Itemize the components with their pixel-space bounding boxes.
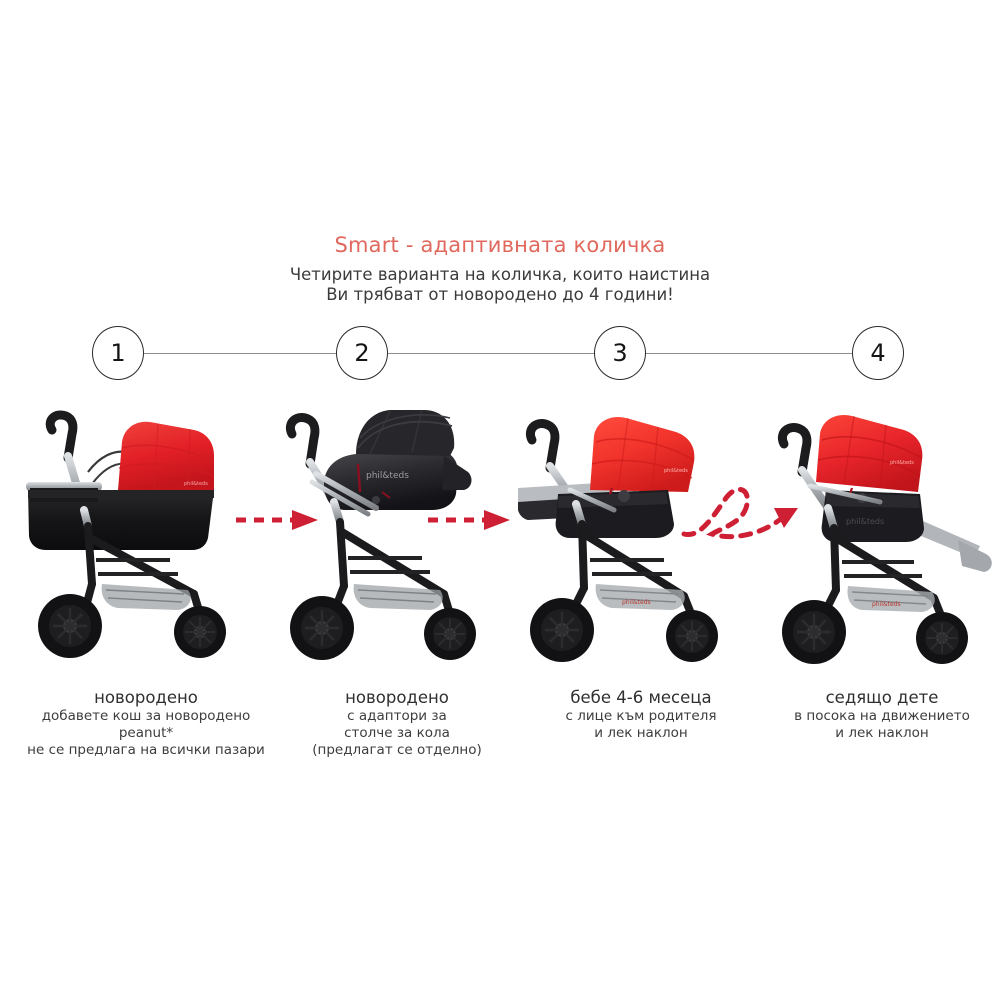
step-circle-1[interactable]: 1 [92, 326, 144, 380]
product-row: phil&teds [0, 398, 1000, 688]
caption-line-3-2: и лек наклон [516, 725, 766, 742]
step-number-1: 1 [110, 341, 125, 365]
caption-row: новородено добавете кош за новородено pe… [0, 688, 1000, 768]
rail-segment-3-4 [646, 353, 852, 354]
caption-line-1-2: peanut* [16, 725, 276, 742]
svg-text:phil&teds: phil&teds [872, 601, 901, 608]
brand-label: phil&teds [890, 460, 914, 466]
step-number-4: 4 [870, 341, 885, 365]
page-subtitle: Четирите варианта на количка, които наис… [0, 265, 1000, 305]
caption-head-1: новородено [16, 688, 276, 708]
product-image-forward-facing-seat: phil&teds phil&teds [762, 398, 1000, 688]
caption-parent-facing: бебе 4-6 месеца с лице към родителя и ле… [516, 688, 766, 742]
step-circle-4[interactable]: 4 [852, 326, 904, 380]
step-circle-3[interactable]: 3 [594, 326, 646, 380]
svg-text:phil&teds: phil&teds [622, 599, 651, 606]
product-image-bassinet: phil&teds [18, 398, 268, 688]
caption-head-4: седящо дете [762, 688, 1000, 708]
infographic-page: Smart - адаптивната количка Четирите вар… [0, 0, 1000, 1000]
page-title: Smart - адаптивната количка [0, 232, 1000, 258]
brand-label: phil&teds [184, 481, 208, 487]
caption-head-3: бебе 4-6 месеца [516, 688, 766, 708]
caption-forward-facing: седящо дете в посока на движението и лек… [762, 688, 1000, 742]
subtitle-line-1: Четирите варианта на количка, които наис… [0, 265, 1000, 285]
svg-text:phil&teds: phil&teds [846, 517, 884, 526]
caption-line-3-1: с лице към родителя [516, 708, 766, 725]
step-number-3: 3 [612, 341, 627, 365]
caption-line-2-3: (предлагат се отделно) [272, 742, 522, 759]
product-image-car-seat: phil&teds [272, 398, 522, 688]
step-indicator-rail: 1 2 3 4 [0, 326, 1000, 382]
caption-car-seat: новородено с адаптори за столче за кола … [272, 688, 522, 759]
step-number-2: 2 [354, 341, 369, 365]
caption-line-4-2: и лек наклон [762, 725, 1000, 742]
caption-line-1-3: не се предлага на всички пазари [16, 742, 276, 759]
step-circle-2[interactable]: 2 [336, 326, 388, 380]
subtitle-line-2: Ви трябват от новородено до 4 години! [0, 285, 1000, 305]
caption-head-2: новородено [272, 688, 522, 708]
caption-line-4-1: в посока на движението [762, 708, 1000, 725]
caption-line-2-2: столче за кола [272, 725, 522, 742]
brand-label: phil&teds [664, 468, 688, 474]
caption-line-1-1: добавете кош за новородено [16, 708, 276, 725]
heading-block: Smart - адаптивната количка Четирите вар… [0, 232, 1000, 305]
caption-line-2-1: с адаптори за [272, 708, 522, 725]
brand-label: phil&teds [366, 471, 409, 481]
rail-segment-2-3 [388, 353, 594, 354]
rail-segment-1-2 [144, 353, 336, 354]
product-image-parent-facing-seat: phil&teds phil&teds [518, 398, 768, 688]
caption-bassinet: новородено добавете кош за новородено pe… [16, 688, 276, 759]
